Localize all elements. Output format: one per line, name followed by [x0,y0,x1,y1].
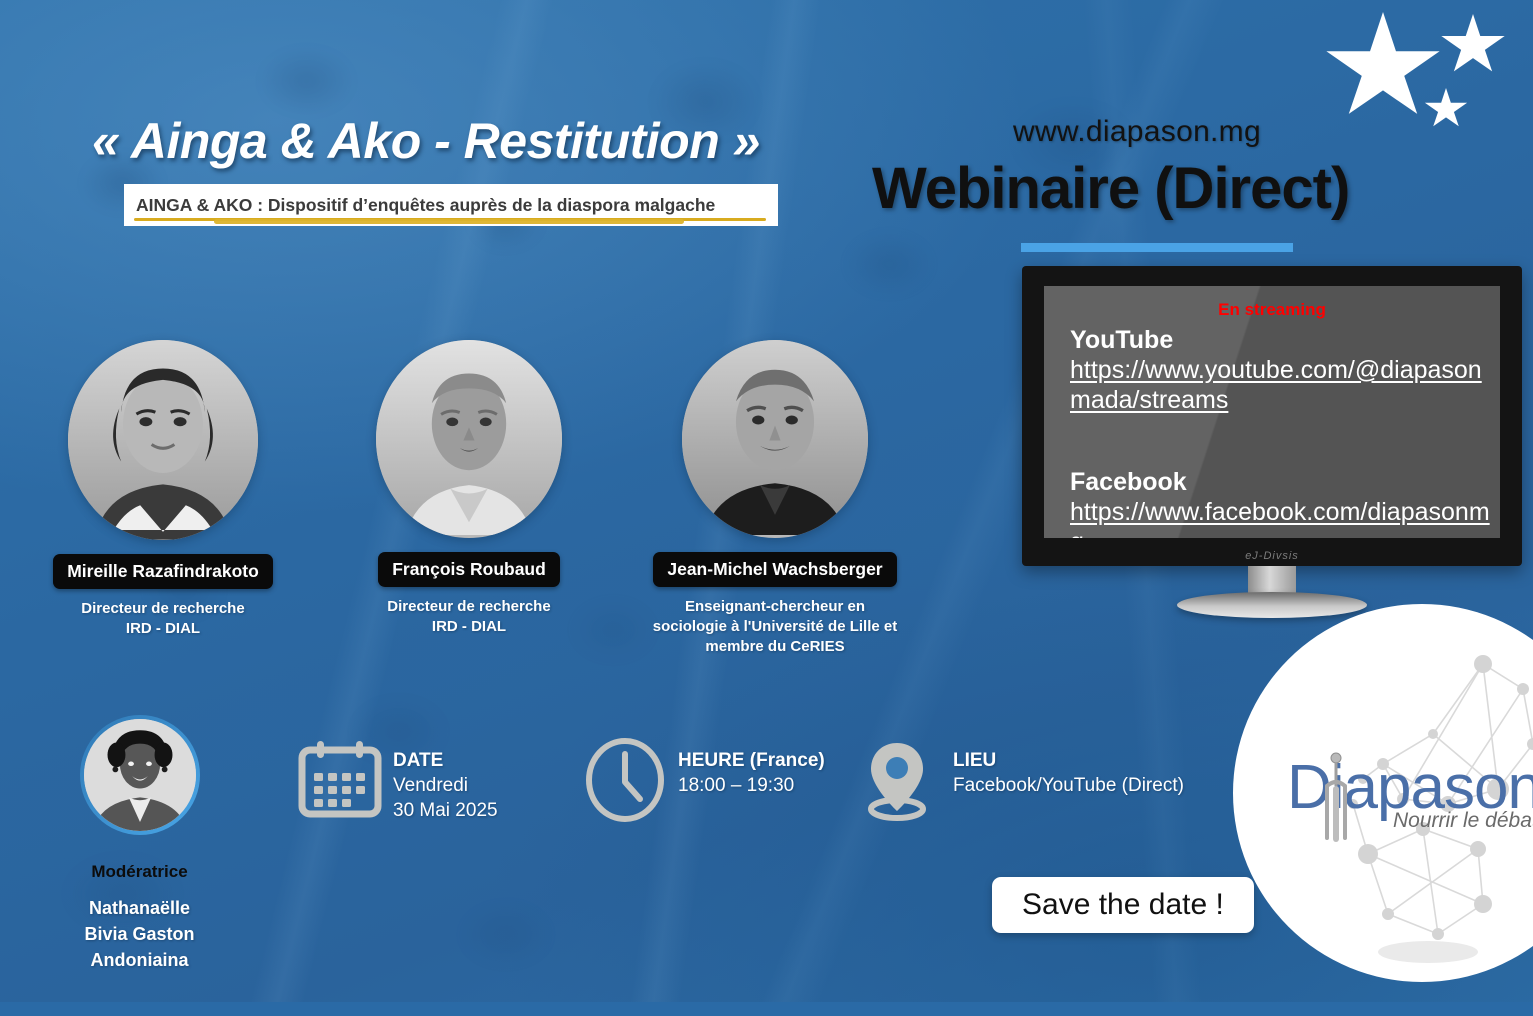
tuning-fork-icon [1321,752,1351,852]
info-place-title: LIEU [953,749,1184,773]
subtitle-banner: AINGA & AKO : Dispositif d’enquêtes aupr… [124,184,778,226]
accent-bar [1021,243,1293,252]
title-block: « Ainga & Ako - Restitution » AINGA & AK… [92,112,852,226]
portrait-illustration [84,719,196,831]
background-bottom-strip [0,1002,1533,1016]
speaker-role-line: Directeur de recherche [13,599,313,619]
portrait-illustration [682,340,868,535]
youtube-link[interactable]: https://www.youtube.com/@diapasonmada/st… [1070,355,1500,416]
streaming-channel-youtube: YouTube https://www.youtube.com/@diapaso… [1070,326,1500,416]
diapason-logo: Diapason Nourrir le débat [1233,604,1533,982]
moderator-name-line: Andoniaina [32,947,247,973]
tv-screen: En streaming YouTube https://www.youtube… [1044,286,1500,538]
page-title: « Ainga & Ako - Restitution » [92,112,852,170]
speaker-role-line: Enseignant-chercheur en [625,597,925,617]
youtube-label: YouTube [1070,326,1500,355]
speaker-role-line: membre du CeRIES [625,637,925,657]
moderator-card: Modératrice Nathanaëlle Bivia Gaston And… [32,715,247,973]
portrait-illustration [68,340,258,540]
speaker-name: François Roubaud [378,552,560,587]
speakers-row: Mireille Razafindrakoto Directeur de rec… [0,340,960,670]
portrait-illustration [376,340,562,535]
speaker-role: Directeur de recherche IRD - DIAL [329,597,609,637]
info-date-text: DATE Vendredi 30 Mai 2025 [393,737,498,823]
speaker-card: François Roubaud Directeur de recherche … [329,340,609,637]
speaker-role-line: IRD - DIAL [13,619,313,639]
info-date-line: Vendredi [393,773,498,798]
speaker-card: Mireille Razafindrakoto Directeur de rec… [13,340,313,639]
location-pin-icon [857,737,943,823]
subtitle-underline-accent [214,219,684,224]
facebook-link[interactable]: https://www.facebook.com/diapasonmg [1070,497,1500,538]
tv-monitor: En streaming YouTube https://www.youtube… [1022,266,1522,566]
speaker-role-line: IRD - DIAL [329,617,609,637]
info-date-title: DATE [393,749,498,773]
moderator-name-line: Nathanaëlle [32,895,247,921]
calendar-icon [297,737,383,823]
save-the-date-button[interactable]: Save the date ! [992,877,1254,933]
logo-tagline: Nourrir le débat [1393,809,1533,833]
info-time-text: HEURE (France) 18:00 – 19:30 [678,737,825,798]
speaker-name: Mireille Razafindrakoto [53,554,273,589]
speaker-role-line: Directeur de recherche [329,597,609,617]
info-place-line: Facebook/YouTube (Direct) [953,773,1184,798]
facebook-label: Facebook [1070,468,1500,497]
speaker-role-line: sociologie à l'Université de Lille et [625,617,925,637]
info-date-line: 30 Mai 2025 [393,798,498,823]
moderator-name: Nathanaëlle Bivia Gaston Andoniaina [32,895,247,973]
streaming-channel-facebook: Facebook https://www.facebook.com/diapas… [1070,468,1500,538]
speaker-card: Jean-Michel Wachsberger Enseignant-cherc… [625,340,925,656]
webinar-heading: Webinaire (Direct) [872,155,1349,222]
avatar [84,719,196,831]
avatar [68,340,258,540]
speaker-role: Enseignant-chercheur en sociologie à l'U… [625,597,925,656]
info-time: HEURE (France) 18:00 – 19:30 [582,737,825,823]
moderator-avatar-ring [80,715,200,835]
clock-icon [582,737,668,823]
moderator-name-line: Bivia Gaston [32,921,247,947]
site-url[interactable]: www.diapason.mg [1013,115,1261,149]
avatar [376,340,562,538]
speaker-name: Jean-Michel Wachsberger [653,552,896,587]
info-time-line: 18:00 – 19:30 [678,773,825,798]
info-date: DATE Vendredi 30 Mai 2025 [297,737,498,823]
tv-brand-logo: eJ-Divsis [1245,550,1299,562]
streaming-badge: En streaming [1218,300,1326,320]
info-place: LIEU Facebook/YouTube (Direct) [857,737,1184,823]
speaker-role: Directeur de recherche IRD - DIAL [13,599,313,639]
webinar-poster: « Ainga & Ako - Restitution » AINGA & AK… [0,0,1533,1016]
avatar [682,340,868,538]
info-place-text: LIEU Facebook/YouTube (Direct) [953,737,1184,798]
moderator-label: Modératrice [32,862,247,882]
info-time-title: HEURE (France) [678,749,825,773]
subtitle-text: AINGA & AKO : Dispositif d’enquêtes aupr… [136,195,715,216]
